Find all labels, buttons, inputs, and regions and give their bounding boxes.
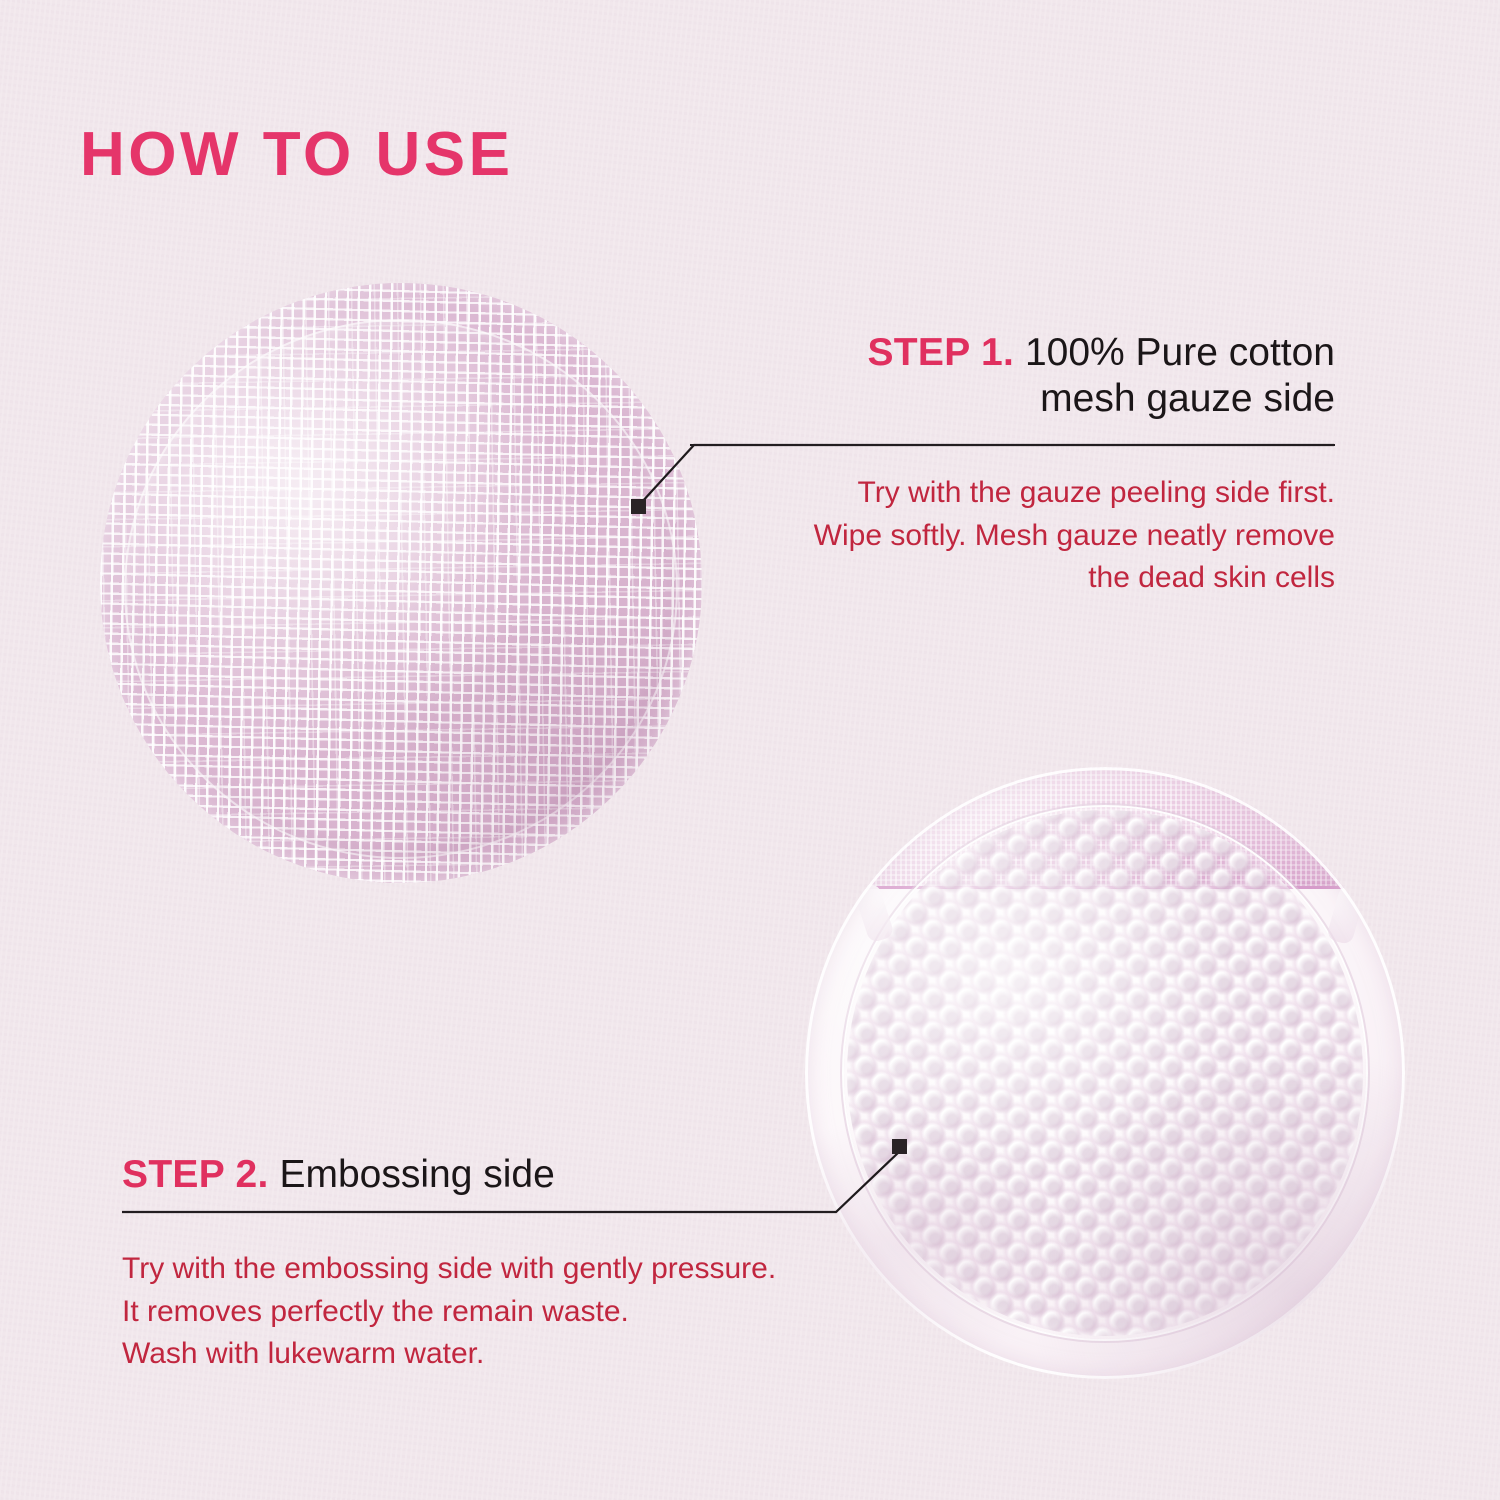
step-1-body-line-3: the dead skin cells xyxy=(690,557,1335,600)
pad-shading xyxy=(805,767,1405,1379)
step-2-body: Try with the embossing side with gently … xyxy=(122,1248,882,1376)
step-2-divider xyxy=(122,1211,834,1213)
step-2-body-line-3: Wash with lukewarm water. xyxy=(122,1333,882,1376)
step-1-title-line-2: mesh gauze side xyxy=(1040,377,1335,420)
step-1-title-line-1: 100% Pure cotton xyxy=(1025,331,1335,374)
infographic-canvas: HOW TO USE STEP 1. 100% Pure cotton xyxy=(0,0,1500,1500)
page-title: HOW TO USE xyxy=(80,124,513,186)
step-2-body-line-2: It removes perfectly the remain waste. xyxy=(122,1291,882,1334)
step-1-heading: STEP 1. 100% Pure cotton mesh gauze side xyxy=(690,330,1335,422)
step-2-body-line-1: Try with the embossing side with gently … xyxy=(122,1248,882,1291)
step-2-label: STEP 2. xyxy=(122,1153,269,1196)
step-1-body: Try with the gauze peeling side first. W… xyxy=(690,472,1335,600)
step-1-body-line-2: Wipe softly. Mesh gauze neatly remove xyxy=(690,515,1335,558)
step-2-title-line-1: Embossing side xyxy=(279,1153,554,1196)
embossed-cotton-pad-image xyxy=(805,767,1405,1379)
step-2-heading: STEP 2. Embossing side xyxy=(122,1152,834,1198)
cotton-mesh-gauze-pad-image xyxy=(100,283,702,883)
step-1-body-line-1: Try with the gauze peeling side first. xyxy=(690,472,1335,515)
step-1-label: STEP 1. xyxy=(867,331,1014,374)
gauze-rim xyxy=(100,283,702,883)
step-1-divider xyxy=(690,444,1335,446)
